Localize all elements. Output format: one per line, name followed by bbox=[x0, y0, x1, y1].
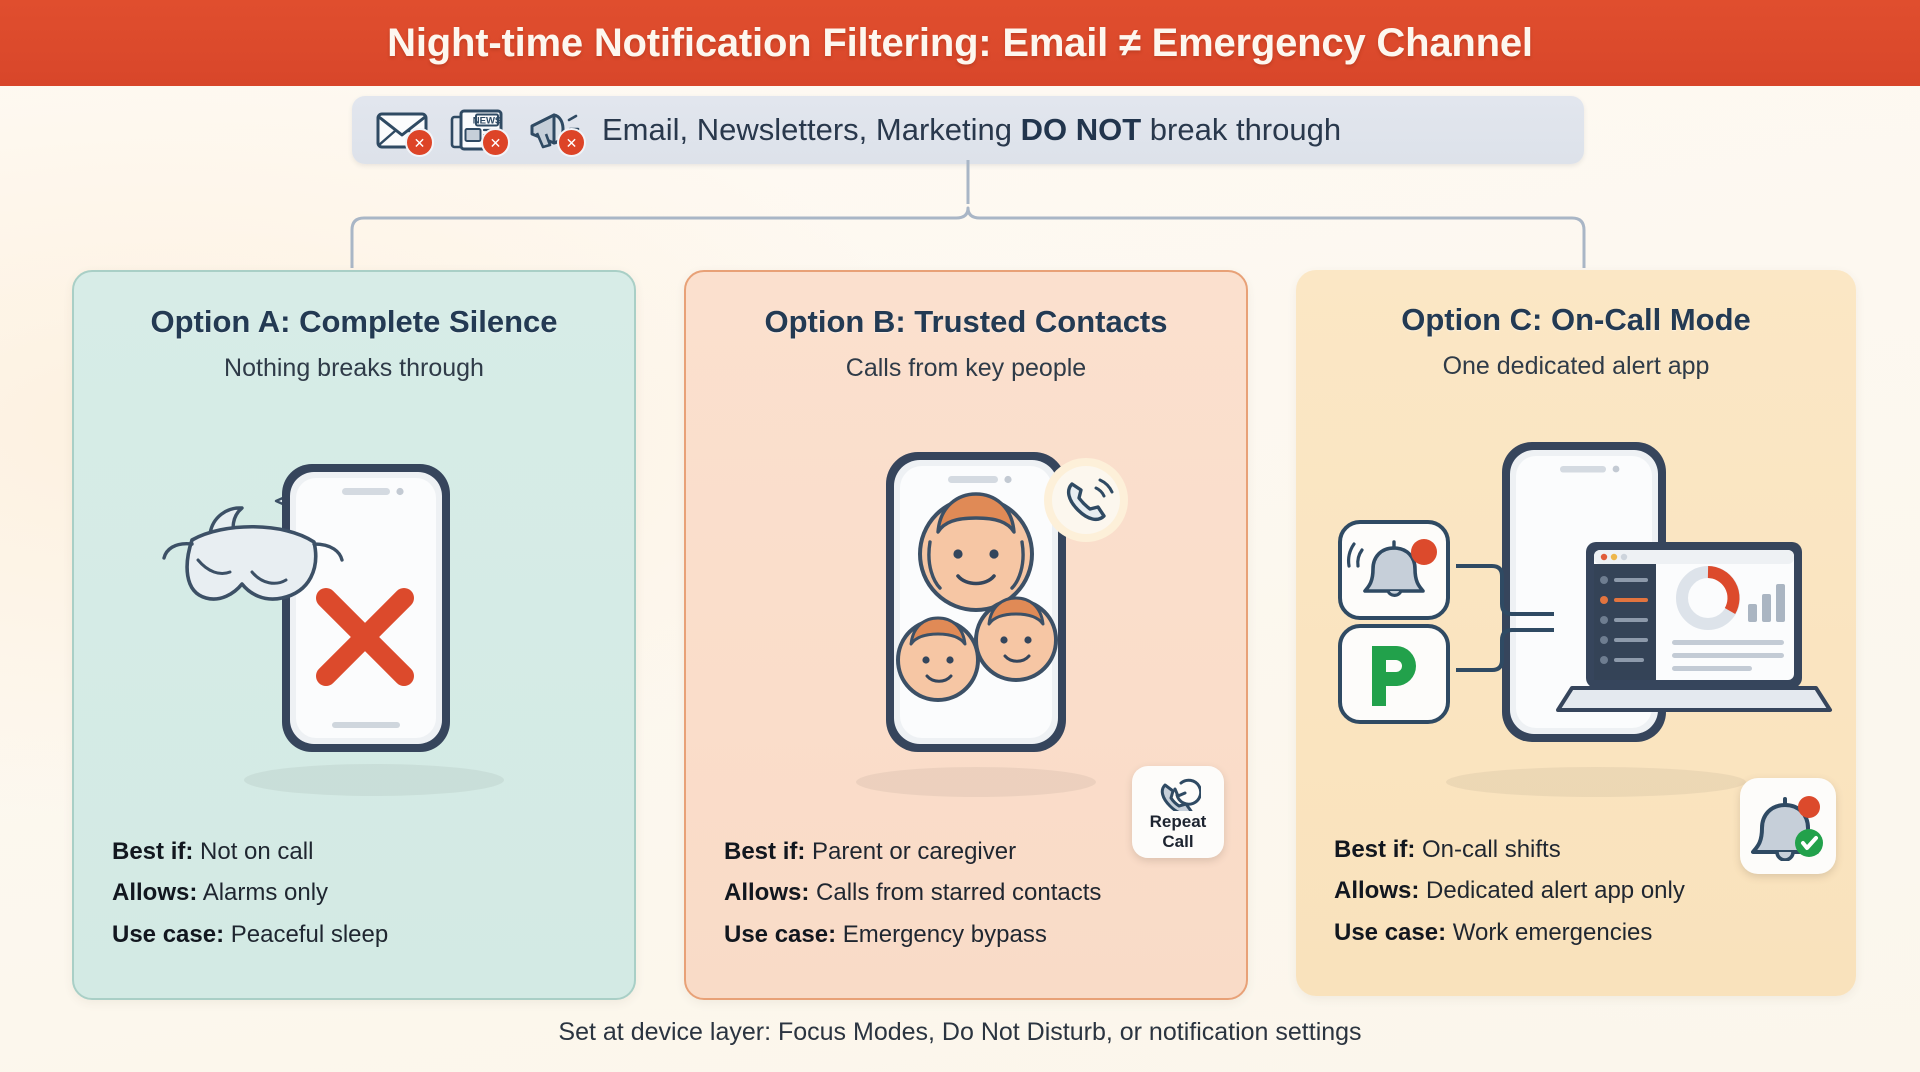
option-c-illustration bbox=[1296, 390, 1856, 820]
blocked-channels-banner: ✕ NEWS ✕ bbox=[352, 96, 1584, 164]
blocked-icons-group: ✕ NEWS ✕ bbox=[352, 105, 588, 155]
option-card-c[interactable]: Option C: On-Call Mode One dedicated ale… bbox=[1296, 270, 1856, 996]
blocked-badge-icon: ✕ bbox=[557, 128, 586, 157]
detail-value: Work emergencies bbox=[1446, 919, 1652, 946]
detail-label: Allows: bbox=[724, 879, 809, 906]
header-bar: Night-time Notification Filtering: Email… bbox=[0, 0, 1920, 86]
detail-value: Alarms only bbox=[197, 879, 328, 906]
svg-text:NEWS: NEWS bbox=[473, 116, 502, 127]
option-a-details: Best if: Not on call Allows: Alarms only… bbox=[74, 838, 672, 962]
page-title: Night-time Notification Filtering: Email… bbox=[387, 21, 1533, 66]
bell-with-check-icon bbox=[1751, 791, 1825, 861]
detail-label: Best if: bbox=[112, 838, 193, 865]
option-card-b[interactable]: Option B: Trusted Contacts Calls from ke… bbox=[684, 270, 1248, 1000]
banner-text-emphasis: DO NOT bbox=[1021, 112, 1142, 147]
detail-value: Not on call bbox=[193, 838, 313, 865]
detail-value: Calls from starred contacts bbox=[809, 879, 1101, 906]
option-a-subtitle: Nothing breaks through bbox=[74, 354, 634, 383]
options-row: Option A: Complete Silence Nothing break… bbox=[0, 270, 1920, 1000]
newspaper-icon: NEWS ✕ bbox=[448, 105, 512, 155]
blocked-badge-icon: ✕ bbox=[481, 128, 510, 157]
detail-row: Use case: Peaceful sleep bbox=[112, 921, 672, 949]
connector-lines bbox=[0, 160, 1920, 280]
detail-value: Emergency bypass bbox=[836, 921, 1047, 948]
detail-label: Allows: bbox=[1334, 877, 1419, 904]
megaphone-icon: ✕ bbox=[524, 105, 588, 155]
banner-text-before: Email, Newsletters, Marketing bbox=[602, 112, 1021, 147]
oncall-bell-badge bbox=[1740, 778, 1836, 874]
option-b-title: Option B: Trusted Contacts bbox=[686, 304, 1246, 340]
detail-value: Parent or caregiver bbox=[805, 838, 1016, 865]
detail-label: Best if: bbox=[1334, 836, 1415, 863]
detail-label: Use case: bbox=[112, 921, 224, 948]
banner-text-after: break through bbox=[1141, 112, 1341, 147]
option-b-subtitle: Calls from key people bbox=[686, 354, 1246, 383]
envelope-icon: ✕ bbox=[372, 105, 436, 155]
blocked-badge-icon: ✕ bbox=[405, 128, 434, 157]
detail-label: Best if: bbox=[724, 838, 805, 865]
option-b-illustration bbox=[686, 392, 1246, 822]
repeat-call-badge: Repeat Call bbox=[1132, 766, 1224, 858]
detail-value: On-call shifts bbox=[1415, 836, 1560, 863]
detail-row: Best if: Not on call bbox=[112, 838, 672, 866]
detail-row: Use case: Emergency bypass bbox=[724, 921, 1284, 949]
repeat-call-label-line2: Call bbox=[1162, 833, 1193, 851]
banner-text: Email, Newsletters, Marketing DO NOT bre… bbox=[588, 112, 1341, 148]
option-card-a[interactable]: Option A: Complete Silence Nothing break… bbox=[72, 270, 636, 1000]
option-a-illustration bbox=[74, 392, 634, 822]
option-c-subtitle: One dedicated alert app bbox=[1296, 352, 1856, 381]
detail-row: Allows: Alarms only bbox=[112, 879, 672, 907]
option-c-title: Option C: On-Call Mode bbox=[1296, 302, 1856, 338]
detail-value: Peaceful sleep bbox=[224, 921, 388, 948]
footer-caption: Set at device layer: Focus Modes, Do Not… bbox=[0, 1018, 1920, 1047]
detail-value: Dedicated alert app only bbox=[1419, 877, 1685, 904]
detail-label: Use case: bbox=[724, 921, 836, 948]
detail-label: Use case: bbox=[1334, 919, 1446, 946]
repeat-call-label-line1: Repeat bbox=[1150, 813, 1207, 831]
detail-row: Allows: Dedicated alert app only bbox=[1334, 877, 1894, 905]
detail-label: Allows: bbox=[112, 879, 197, 906]
detail-row: Allows: Calls from starred contacts bbox=[724, 879, 1284, 907]
infographic-page: Night-time Notification Filtering: Email… bbox=[0, 0, 1920, 1072]
detail-row: Use case: Work emergencies bbox=[1334, 919, 1894, 947]
option-a-title: Option A: Complete Silence bbox=[74, 304, 634, 340]
repeat-call-icon bbox=[1155, 773, 1201, 811]
